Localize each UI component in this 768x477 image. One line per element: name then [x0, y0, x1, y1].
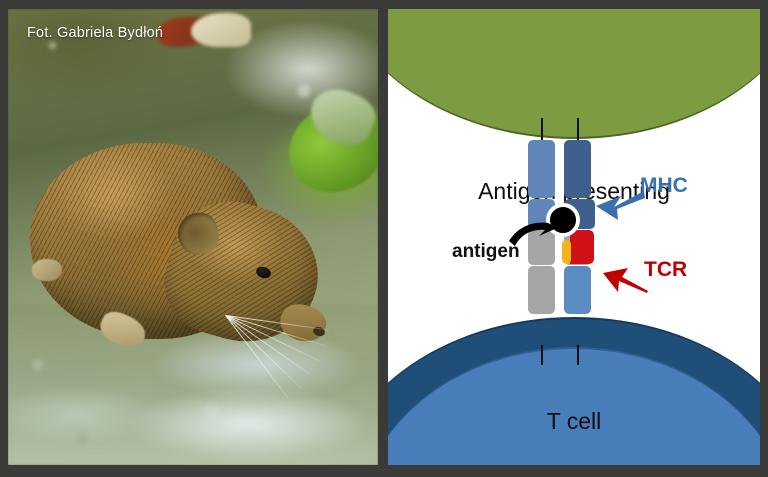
photo-scene — [8, 9, 378, 465]
antigen-presenting-cell-shape — [388, 9, 760, 139]
antigen-label: antigen — [452, 241, 520, 263]
tcr-cdr-yellow-region — [562, 240, 571, 264]
t-cell-membrane-stalk-left — [541, 345, 543, 365]
tcr-right-lower-domain — [564, 266, 591, 314]
mhc-label: MHC — [640, 174, 688, 198]
photo-credit: Fot. Gabriela Bydłoń — [27, 25, 163, 41]
tcr-pointer-arrow-icon — [600, 261, 650, 293]
apc-membrane-stalk-left — [541, 118, 543, 140]
diagram-panel: Antigen presenting cell T cell M — [388, 9, 760, 465]
tcr-label: TCR — [644, 258, 687, 282]
mhc-right-distal-domain — [564, 140, 591, 198]
tcr-left-lower-domain — [528, 266, 555, 314]
tcr-cdr-red-region — [570, 230, 594, 264]
t-cell-label: T cell — [388, 408, 760, 435]
mhc-left-distal-domain — [528, 140, 555, 198]
mhc-pointer-arrow-icon — [594, 187, 646, 221]
apc-membrane-stalk-right — [577, 118, 579, 140]
slide-canvas: Fot. Gabriela Bydłoń Antigen presenting … — [0, 0, 768, 477]
photo-softening-layer — [8, 9, 378, 465]
t-cell-membrane-stalk-right — [577, 345, 579, 365]
photo-panel: Fot. Gabriela Bydłoń — [8, 9, 378, 465]
